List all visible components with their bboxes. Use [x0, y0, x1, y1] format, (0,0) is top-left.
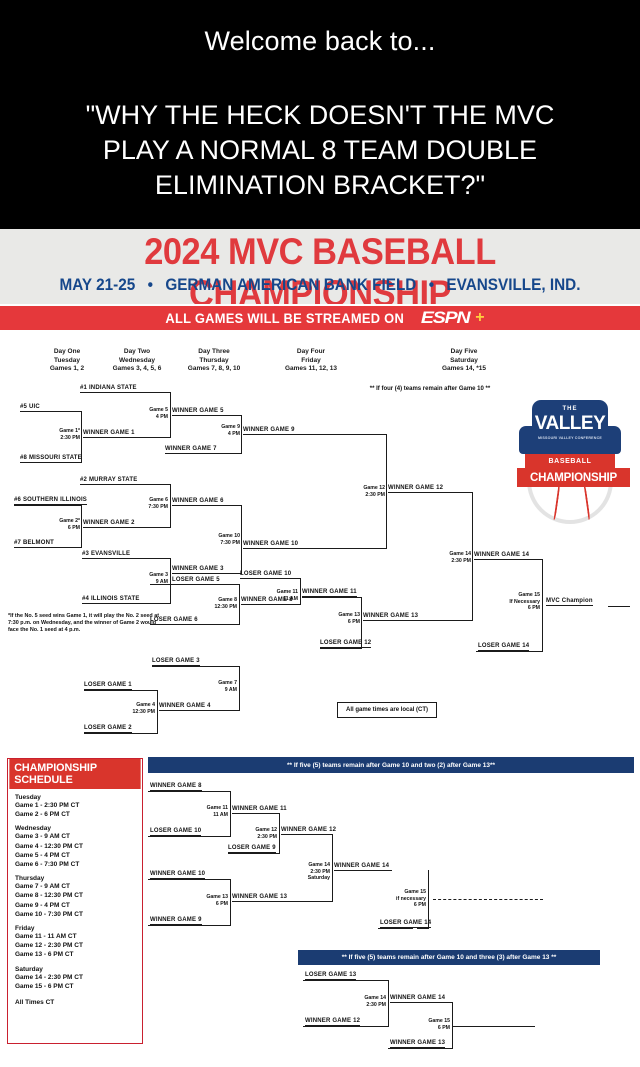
- game-time: 2:30 PM: [348, 492, 385, 499]
- game-time: 4 PM: [204, 431, 240, 438]
- bracket-line: [150, 584, 240, 585]
- game-9-tag: Game 9 4 PM: [204, 424, 240, 437]
- bracket-line: [300, 578, 301, 604]
- schedule-title: CHAMPIONSHIP SCHEDULE: [9, 759, 140, 789]
- logo-valley-text: VALLEY: [532, 413, 608, 435]
- weekday-label: Friday: [266, 357, 356, 366]
- bracket-line: [148, 925, 231, 926]
- bracket-line: [378, 928, 413, 929]
- game-11-tag: Game 11 11 AM: [266, 589, 298, 602]
- bracket-line: [82, 484, 171, 485]
- bracket-line: [239, 584, 240, 624]
- sa-slot-winner-game-8: WINNER GAME 8: [150, 783, 202, 791]
- slot-winner-game-13: WINNER GAME 13: [363, 613, 418, 619]
- sa-slot-loser-game-10: LOSER GAME 10: [150, 828, 201, 836]
- day-label: Day Four: [266, 348, 356, 357]
- game-time: 6 PM: [500, 605, 540, 612]
- quote-text: "WHY THE HECK DOESN'T THE MVC PLAY A NOR…: [0, 98, 640, 203]
- bracket-line: [303, 980, 389, 981]
- sb-slot-winner-game-13: WINNER GAME 13: [390, 1040, 445, 1048]
- event-banner: 2024 MVC BASEBALL CHAMPIONSHIP MAY 21-25…: [0, 229, 640, 304]
- schedule-day-saturday: Saturday: [15, 966, 135, 973]
- bracket-line: [334, 870, 392, 871]
- game-12-tag: Game 12 2:30 PM: [348, 485, 385, 498]
- game-13-tag: Game 13 6 PM: [328, 612, 360, 625]
- event-venue: GERMAN AMERICAN BANK FIELD: [165, 275, 416, 294]
- bracket-line: [241, 604, 301, 605]
- slot-winner-game-1: WINNER GAME 1: [83, 430, 135, 436]
- sa-game-11-tag: Game 11 11 AM: [197, 805, 228, 818]
- sa-game-14-tag: Game 14 2:30 PM Saturday: [295, 862, 330, 882]
- bracket-line: [390, 1002, 453, 1003]
- bracket-line: [239, 666, 240, 710]
- bracket-line: [241, 505, 242, 573]
- bracket-line: [159, 710, 240, 711]
- game-time: 2:30 PM: [40, 435, 80, 442]
- separator-dot-2: •: [421, 275, 443, 294]
- schedule-game: Game 3 - 9 AM CT: [15, 832, 135, 841]
- schedule-day-wednesday: Wednesday: [15, 825, 135, 832]
- schedule-game: Game 13 - 6 PM CT: [15, 950, 135, 959]
- espn-logo-icon: ESPN: [421, 308, 470, 328]
- event-dates: MAY 21-25: [60, 275, 136, 294]
- bracket-line: [148, 836, 231, 837]
- bracket-line: [82, 392, 171, 393]
- bracket-line: [152, 666, 240, 667]
- bracket-line: [165, 453, 242, 454]
- note-seed-five: *If the No. 5 seed wins Game 1, it will …: [8, 613, 168, 635]
- schedule-game: Game 10 - 7:30 PM CT: [15, 910, 135, 919]
- game-time: 6 PM: [328, 619, 360, 626]
- schedule-game: Game 5 - 4 PM CT: [15, 851, 135, 860]
- game-6-tag: Game 6 7:30 PM: [130, 497, 168, 510]
- schedule-game: Game 11 - 11 AM CT: [15, 932, 135, 941]
- schedule-game: Game 2 - 6 PM CT: [15, 810, 135, 819]
- slot-loser-game-14: LOSER GAME 14: [478, 643, 529, 651]
- scenario-b-header: ** If five (5) teams remain after Game 1…: [298, 950, 600, 965]
- bracket-line: [243, 548, 387, 549]
- slot-winner-game-7: WINNER GAME 7: [165, 446, 217, 452]
- bracket-line: [241, 415, 242, 453]
- game-time: 11 AM: [266, 596, 298, 603]
- bracket-line: [332, 834, 333, 901]
- game-time: 6 PM: [418, 1025, 450, 1032]
- day-label: Day Five: [419, 348, 509, 357]
- bracket-line: [148, 879, 231, 880]
- slot-seed-5: #5 UIC: [20, 404, 40, 410]
- bracket-line: [148, 791, 231, 792]
- bracket-line: [388, 980, 389, 1026]
- bracket-line: [279, 813, 280, 853]
- slot-seed-8: #8 MISSOURI STATE: [20, 455, 82, 461]
- game-5-tag: Game 5 4 PM: [130, 407, 168, 420]
- logo-conference-text: MISSOURI VALLEY CONFERENCE: [532, 436, 608, 440]
- bracket-line: [474, 559, 543, 560]
- bracket-line: [172, 505, 242, 506]
- bracket-line: [232, 813, 280, 814]
- game-1-tag: Game 1* 2:30 PM: [40, 428, 80, 441]
- sa-slot-winner-game-13: WINNER GAME 13: [232, 894, 287, 900]
- bracket-line: [388, 1048, 453, 1049]
- bracket-line: [84, 733, 158, 734]
- logo-baseball-band: BASEBALL: [525, 454, 615, 469]
- welcome-text: Welcome back to...: [0, 26, 640, 57]
- bracket-line: [170, 392, 171, 437]
- schedule-day-tuesday: Tuesday: [15, 794, 135, 801]
- bracket-line: [608, 606, 630, 607]
- sa-slot-loser-game-14: LOSER GAME 14: [380, 920, 431, 928]
- schedule-game: Game 4 - 12:30 PM CT: [15, 842, 135, 851]
- game-14-tag: Game 14 2:30 PM: [437, 551, 471, 564]
- note-local-times: All game times are local (CT): [337, 702, 437, 718]
- game-7-tag: Game 7 9 AM: [203, 680, 237, 693]
- slot-loser-game-12: LOSER GAME 12: [320, 640, 371, 648]
- bracket-line: [428, 870, 429, 928]
- games-label: Games 14, *15: [419, 365, 509, 374]
- schedule-day-thursday: Thursday: [15, 875, 135, 882]
- game-10-tag: Game 10 7:30 PM: [202, 533, 240, 546]
- slot-loser-game-3: LOSER GAME 3: [152, 658, 200, 666]
- slot-winner-game-2: WINNER GAME 2: [83, 520, 135, 526]
- game-8-tag: Game 8 12:30 PM: [201, 597, 237, 610]
- bracket-line: [14, 505, 82, 506]
- schedule-game: Game 8 - 12:30 PM CT: [15, 891, 135, 900]
- game-time: 2:30 PM: [354, 1002, 386, 1009]
- game-time: 9 AM: [203, 687, 237, 694]
- game-time: 12:30 PM: [201, 604, 237, 611]
- espn-plus-icon: +: [475, 309, 484, 327]
- bracket-line: [82, 603, 171, 604]
- game-time: 7:30 PM: [130, 504, 168, 511]
- games-label: Games 11, 12, 13: [266, 365, 356, 374]
- bracket-line: [240, 578, 301, 579]
- bracket-line: [81, 411, 82, 462]
- bracket-line: [83, 527, 171, 528]
- slot-winner-game-10: WINNER GAME 10: [243, 541, 298, 547]
- bracket-line: [20, 411, 82, 412]
- bracket-line: [230, 879, 231, 925]
- game-time: 7:30 PM: [202, 540, 240, 547]
- bracket-line: [172, 415, 242, 416]
- bracket-line: [452, 1026, 535, 1027]
- sa-game-13-tag: Game 13 6 PM: [197, 894, 228, 907]
- sa-slot-winner-game-14: WINNER GAME 14: [334, 863, 389, 869]
- slot-seed-6: #6 SOUTHERN ILLINOIS: [14, 497, 87, 505]
- games-label: Games 7, 8, 9, 10: [169, 365, 259, 374]
- slot-winner-game-9: WINNER GAME 9: [243, 427, 295, 433]
- sb-slot-loser-game-13: LOSER GAME 13: [305, 972, 356, 980]
- game-time: 4 PM: [130, 414, 168, 421]
- sa-slot-winner-game-12: WINNER GAME 12: [281, 827, 336, 833]
- logo-championship-band: CHAMPIONSHIP: [517, 468, 630, 487]
- bracket-line: [363, 620, 473, 621]
- slot-winner-game-5: WINNER GAME 5: [172, 408, 224, 414]
- weekday-label: Saturday: [419, 357, 509, 366]
- bracket-line: [243, 434, 387, 435]
- day-header-five: Day Five Saturday Games 14, *15: [419, 348, 509, 374]
- sb-slot-winner-game-12: WINNER GAME 12: [305, 1018, 360, 1026]
- bracket-line: [230, 791, 231, 836]
- bracket-line: [542, 559, 543, 651]
- schedule-game: Game 14 - 2:30 PM CT: [15, 973, 135, 982]
- slot-winner-game-6: WINNER GAME 6: [172, 498, 224, 504]
- bracket-line: [172, 573, 242, 574]
- slot-winner-game-3: WINNER GAME 3: [172, 566, 224, 572]
- game-time: 6 PM: [40, 525, 80, 532]
- schedule-game: Game 15 - 6 PM CT: [15, 982, 135, 991]
- note-four-teams: ** If four (4) teams remain after Game 1…: [330, 386, 530, 392]
- slot-winner-game-11: WINNER GAME 11: [302, 589, 357, 597]
- bracket-line: [82, 558, 171, 559]
- bracket-line: [170, 558, 171, 603]
- day-label: Day Three: [169, 348, 259, 357]
- bracket-line: [452, 1002, 453, 1048]
- weekday-label: Thursday: [169, 357, 259, 366]
- sb-game-15-tag: Game 15 6 PM: [418, 1018, 450, 1031]
- championship-schedule-panel: CHAMPIONSHIP SCHEDULE Tuesday Game 1 - 2…: [7, 758, 143, 1044]
- sb-game-14-tag: Game 14 2:30 PM: [354, 995, 386, 1008]
- valley-championship-logo: THE VALLEY MISSOURI VALLEY CONFERENCE BA…: [517, 398, 630, 516]
- schedule-game: Game 9 - 4 PM CT: [15, 901, 135, 910]
- sa-slot-winner-game-9: WINNER GAME 9: [150, 917, 202, 925]
- sa-game-12-tag: Game 12 2:30 PM: [246, 827, 277, 840]
- event-subtitle: MAY 21-25 • GERMAN AMERICAN BANK FIELD •…: [32, 275, 608, 295]
- bracket-line: [281, 834, 333, 835]
- slot-winner-game-4: WINNER GAME 4: [159, 703, 211, 709]
- slot-winner-game-12: WINNER GAME 12: [388, 485, 443, 491]
- separator-dot-1: •: [139, 275, 161, 294]
- bracket-line: [170, 484, 171, 527]
- bracket-line: [83, 437, 171, 438]
- game-15-tag: Game 15 If Necessary 6 PM: [500, 592, 540, 612]
- stream-text: ALL GAMES WILL BE STREAMED ON: [166, 310, 405, 326]
- bracket-line: [20, 462, 82, 463]
- game-time: 12:30 PM: [118, 709, 155, 716]
- game-time: 11 AM: [197, 812, 228, 819]
- slot-mvc-champion: MVC Champion: [546, 598, 593, 606]
- game-time: 2:30 PM: [437, 558, 471, 565]
- bracket-line: [417, 928, 429, 929]
- bracket-line: [303, 1026, 389, 1027]
- schedule-all-times: All Times CT: [15, 999, 135, 1006]
- schedule-game: Game 1 - 2:30 PM CT: [15, 801, 135, 810]
- bracket-line: [361, 597, 362, 648]
- sa-slot-winner-game-10: WINNER GAME 10: [150, 871, 205, 879]
- sa-game-15-tag: Game 15 if necessary 6 PM: [388, 889, 426, 909]
- slot-loser-game-1: LOSER GAME 1: [84, 682, 132, 690]
- sa-slot-loser-game-9: LOSER GAME 9: [228, 845, 276, 853]
- title-card: Welcome back to... "WHY THE HECK DOESN'T…: [0, 0, 640, 229]
- game-time: 2:30 PM: [246, 834, 277, 841]
- scenario-a-header: ** If five (5) teams remain after Game 1…: [148, 757, 634, 773]
- bracket-line-dashed: [433, 899, 543, 900]
- logo-the-text: THE: [532, 406, 608, 412]
- schedule-game: Game 7 - 9 AM CT: [15, 882, 135, 891]
- schedule-day-friday: Friday: [15, 925, 135, 932]
- bracket-line: [476, 651, 543, 652]
- quote-line-3: ELIMINATION BRACKET?": [0, 168, 640, 203]
- slot-loser-game-2: LOSER GAME 2: [84, 725, 132, 733]
- bracket-line: [388, 492, 473, 493]
- espn-stream-bar: ALL GAMES WILL BE STREAMED ON ESPN +: [0, 306, 640, 330]
- bracket-line: [232, 901, 333, 902]
- sa-slot-winner-game-11: WINNER GAME 11: [232, 806, 287, 812]
- sb-slot-winner-game-14: WINNER GAME 14: [390, 995, 445, 1001]
- event-city: EVANSVILLE, IND.: [446, 275, 580, 294]
- bracket-line: [81, 505, 82, 547]
- day-header-four: Day Four Friday Games 11, 12, 13: [266, 348, 356, 374]
- bracket-line: [14, 547, 82, 548]
- day-header-three: Day Three Thursday Games 7, 8, 9, 10: [169, 348, 259, 374]
- bracket-line: [386, 434, 387, 548]
- game-sub: Saturday: [295, 875, 330, 882]
- bracket-line: [84, 690, 158, 691]
- bracket-line: [302, 597, 362, 598]
- schedule-game: Game 6 - 7:30 PM CT: [15, 860, 135, 869]
- game-time: 6 PM: [388, 902, 426, 909]
- game-time: 6 PM: [197, 901, 228, 908]
- schedule-body: Tuesday Game 1 - 2:30 PM CT Game 2 - 6 P…: [8, 789, 142, 1011]
- quote-line-2: PLAY A NORMAL 8 TEAM DOUBLE: [0, 133, 640, 168]
- schedule-game: Game 12 - 2:30 PM CT: [15, 941, 135, 950]
- slot-winner-game-14: WINNER GAME 14: [474, 552, 529, 558]
- bracket-line: [228, 853, 280, 854]
- game-2-tag: Game 2* 6 PM: [40, 518, 80, 531]
- game-4-tag: Game 4 12:30 PM: [118, 702, 155, 715]
- bracket-line: [157, 690, 158, 733]
- bracket-line: [472, 492, 473, 620]
- bracket-line: [320, 648, 362, 649]
- quote-line-1: "WHY THE HECK DOESN'T THE MVC: [0, 98, 640, 133]
